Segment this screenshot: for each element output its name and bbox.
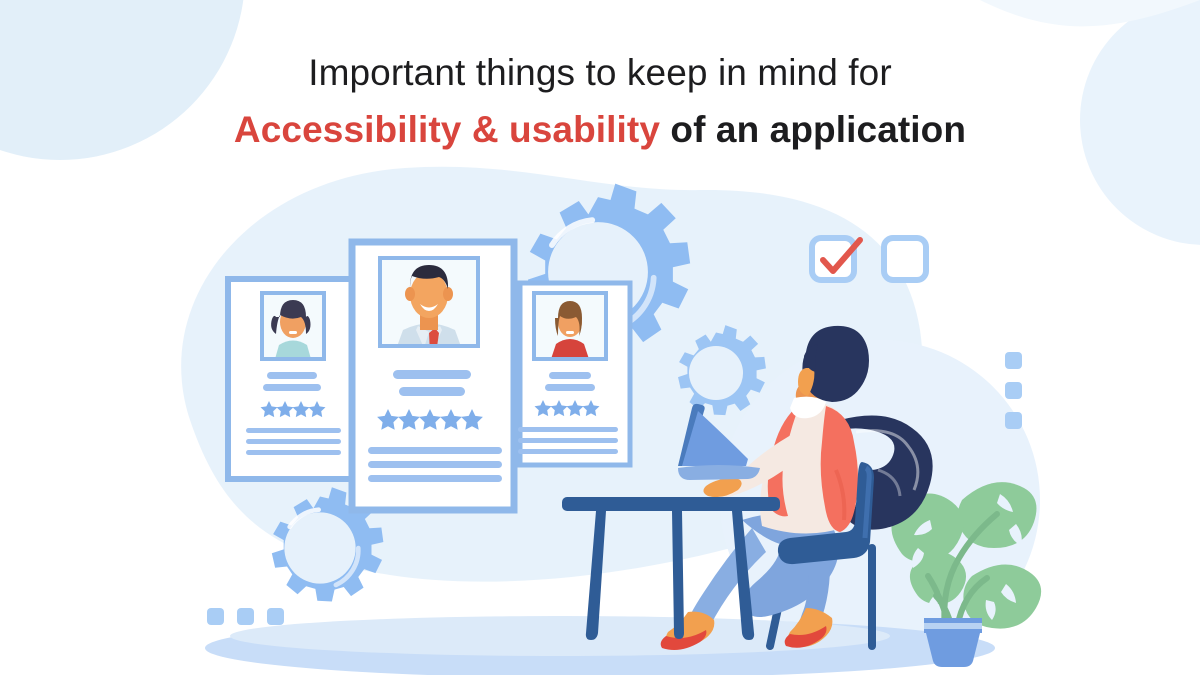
avatar-left <box>264 295 322 359</box>
card-center-title-line-1 <box>393 370 471 379</box>
avatar-right <box>536 295 604 359</box>
card-right-title-line-2 <box>545 384 595 391</box>
bg-circle-topleft <box>0 0 245 160</box>
laptop-keyboard <box>678 465 760 480</box>
desk-top <box>562 497 780 511</box>
dots-vertical-right <box>1005 352 1022 429</box>
card-right-body-lines <box>518 427 618 454</box>
card-center-body-lines <box>368 447 502 482</box>
pot-stripe-1 <box>924 618 982 623</box>
hero-illustration <box>0 0 1200 675</box>
resume-card-left <box>228 279 356 479</box>
bg-circle-farright <box>1080 0 1200 245</box>
pot-stripe-2 <box>924 629 982 633</box>
card-left-title-line-2 <box>263 384 321 391</box>
avatar-center <box>382 260 476 354</box>
illustration-banner: Important things to keep in mind for Acc… <box>0 0 1200 675</box>
card-left-body-lines <box>246 428 341 455</box>
card-center-title-line-2 <box>399 387 465 396</box>
card-right-title-line-1 <box>549 372 591 379</box>
pot-body <box>926 633 980 667</box>
checkbox-unchecked[interactable] <box>884 238 926 280</box>
desk-leg-center <box>672 511 684 639</box>
resume-card-right <box>518 283 630 465</box>
card-left-title-line-1 <box>267 372 317 379</box>
resume-card-center <box>352 242 514 510</box>
checkbox-checked[interactable] <box>812 238 860 280</box>
dots-horizontal-left <box>207 608 284 625</box>
